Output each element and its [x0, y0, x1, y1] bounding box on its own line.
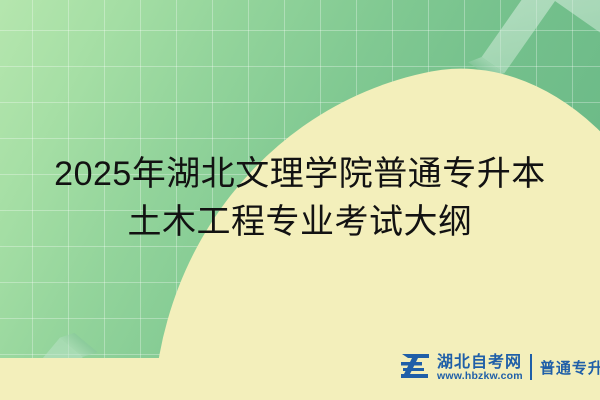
- title-line-2: 土木工程专业考试大纲: [0, 198, 600, 246]
- cream-base-fade: [0, 358, 270, 400]
- hbzkw-z-mark-icon: [398, 352, 432, 382]
- watermark-logo[interactable]: 湖北自考网 www.hbzkw.com 普通专升本: [398, 350, 600, 384]
- logo-divider: [530, 354, 532, 380]
- title-line-1: 2025年湖北文理学院普通专升本: [0, 150, 600, 198]
- logo-tagline: 普通专升本: [540, 357, 600, 378]
- banner: 2025年湖北文理学院普通专升本 土木工程专业考试大纲 湖北自考网 www.hb…: [0, 0, 600, 400]
- logo-site-url: www.hbzkw.com: [437, 370, 523, 382]
- page-title: 2025年湖北文理学院普通专升本 土木工程专业考试大纲: [0, 150, 600, 246]
- logo-text-block: 湖北自考网 www.hbzkw.com: [437, 351, 523, 383]
- logo-site-name: 湖北自考网: [437, 353, 523, 370]
